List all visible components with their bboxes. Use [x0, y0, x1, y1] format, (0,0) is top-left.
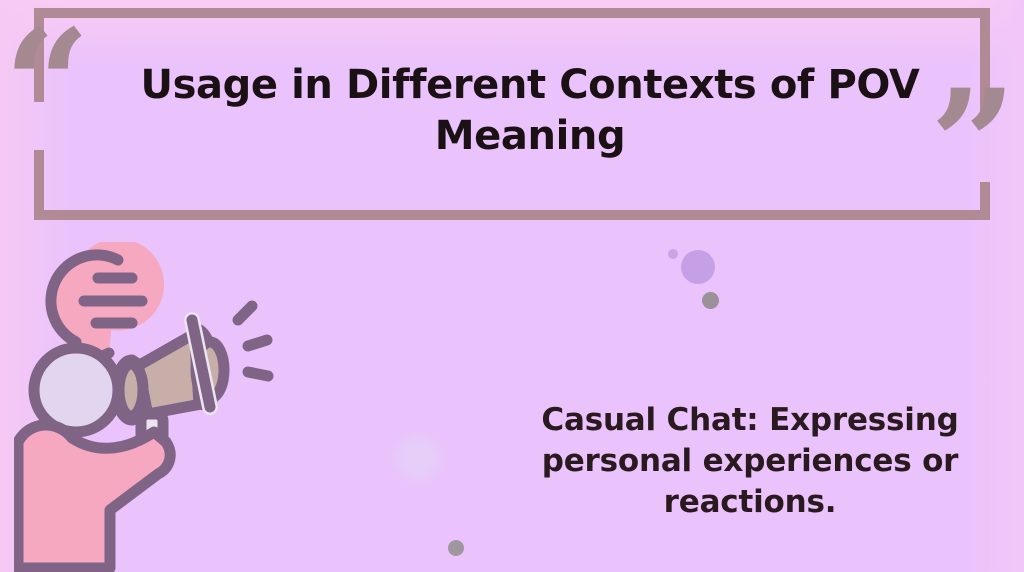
dot-small-purple	[668, 249, 678, 259]
poster-canvas: “ ” Usage in Different Contexts of POV M…	[0, 0, 1024, 572]
dot-large-purple	[681, 250, 715, 284]
page-title: Usage in Different Contexts of POV Meani…	[130, 60, 930, 162]
opening-quote-icon: “	[4, 10, 90, 160]
person-with-megaphone-illustration	[14, 242, 304, 572]
frame-top-segment	[34, 8, 990, 18]
dot-gray-medium	[702, 292, 719, 309]
caption-text: Casual Chat: Expressing personal experie…	[500, 400, 1000, 524]
frame-bottom-segment	[34, 210, 990, 220]
dot-gray-small	[448, 540, 464, 556]
closing-quote-icon: ”	[930, 70, 1016, 220]
dot-faint-glow	[396, 436, 440, 480]
